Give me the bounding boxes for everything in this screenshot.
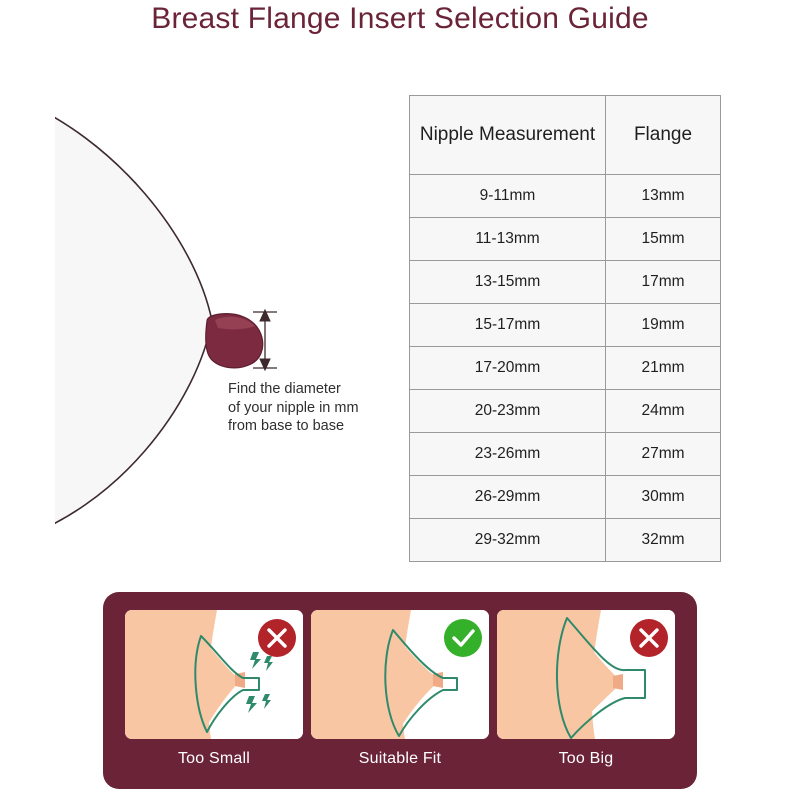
table-header-row: Nipple Measurement Flange: [410, 96, 721, 175]
cell-nipple-measurement: 23-26mm: [410, 433, 606, 476]
table-row: 20-23mm24mm: [410, 390, 721, 433]
cell-flange-size: 19mm: [606, 304, 721, 347]
nipple-tip: [613, 674, 623, 690]
fit-card-too-big[interactable]: Too Big: [497, 610, 675, 768]
breast-outline-shape: [55, 98, 212, 540]
fit-label-suitable-fit: Suitable Fit: [359, 750, 441, 768]
table-row: 15-17mm19mm: [410, 304, 721, 347]
nipple-highlight: [215, 317, 255, 330]
table-row: 29-32mm32mm: [410, 519, 721, 562]
cell-flange-size: 21mm: [606, 347, 721, 390]
cross-icon: [258, 619, 296, 657]
fit-thumbnail-too-small: [125, 610, 303, 739]
check-icon: [444, 619, 482, 657]
fit-thumbnail-suitable-fit: [311, 610, 489, 739]
fit-card-too-small[interactable]: Too Small: [125, 610, 303, 768]
cell-flange-size: 17mm: [606, 261, 721, 304]
column-header-nipple-measurement: Nipple Measurement: [410, 96, 606, 175]
table-row: 17-20mm21mm: [410, 347, 721, 390]
cell-nipple-measurement: 15-17mm: [410, 304, 606, 347]
cell-nipple-measurement: 11-13mm: [410, 218, 606, 261]
table-row: 26-29mm30mm: [410, 476, 721, 519]
cell-nipple-measurement: 29-32mm: [410, 519, 606, 562]
table-row: 9-11mm13mm: [410, 175, 721, 218]
cell-nipple-measurement: 26-29mm: [410, 476, 606, 519]
cell-flange-size: 13mm: [606, 175, 721, 218]
table-row: 13-15mm17mm: [410, 261, 721, 304]
page-title: Breast Flange Insert Selection Guide: [0, 2, 800, 36]
cell-nipple-measurement: 13-15mm: [410, 261, 606, 304]
fit-label-too-big: Too Big: [559, 750, 614, 768]
column-header-flange: Flange: [606, 96, 721, 175]
cell-nipple-measurement: 20-23mm: [410, 390, 606, 433]
cell-flange-size: 27mm: [606, 433, 721, 476]
cell-nipple-measurement: 17-20mm: [410, 347, 606, 390]
table-row: 23-26mm27mm: [410, 433, 721, 476]
fit-card-suitable-fit[interactable]: Suitable Fit: [311, 610, 489, 768]
cell-flange-size: 24mm: [606, 390, 721, 433]
flange-size-table: Nipple Measurement Flange 9-11mm13mm11-1…: [409, 95, 721, 562]
cell-flange-size: 30mm: [606, 476, 721, 519]
cell-flange-size: 32mm: [606, 519, 721, 562]
fit-comparison-panel: Too Small Suitable Fit: [103, 592, 697, 789]
cross-icon: [630, 619, 668, 657]
measurement-caption: Find the diameter of your nipple in mm f…: [228, 380, 408, 436]
breast-illustration: [55, 78, 405, 558]
cell-nipple-measurement: 9-11mm: [410, 175, 606, 218]
fit-thumbnail-too-big: [497, 610, 675, 739]
cell-flange-size: 15mm: [606, 218, 721, 261]
fit-label-too-small: Too Small: [178, 750, 250, 768]
table-row: 11-13mm15mm: [410, 218, 721, 261]
